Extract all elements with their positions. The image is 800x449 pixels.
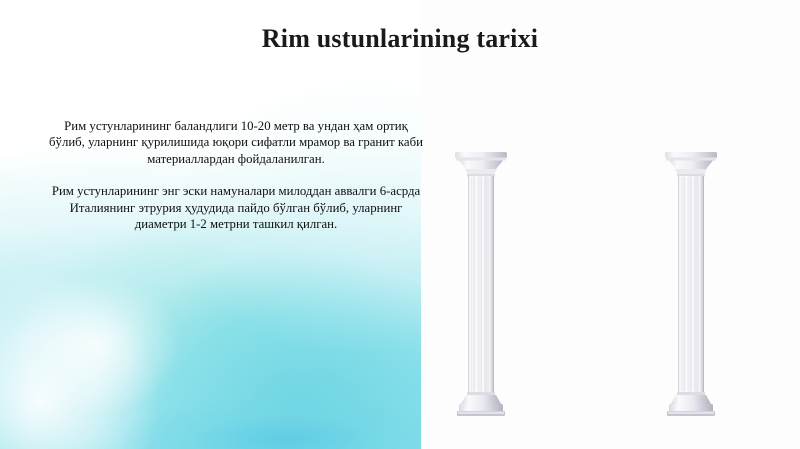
slide-canvas: Rim ustunlarining tarixi Рим устунларини…	[0, 0, 800, 449]
body-text-block: Рим устунларининг баландлиги 10-20 метр …	[46, 118, 426, 232]
roman-column-left	[446, 150, 516, 422]
roman-column-icon	[446, 150, 516, 422]
roman-column-right	[656, 150, 726, 422]
body-paragraph-1: Рим устунларининг баландлиги 10-20 метр …	[46, 118, 426, 167]
body-paragraph-2: Рим устунларининг энг эски намуналари ми…	[46, 183, 426, 232]
slide-title: Rim ustunlarining tarixi	[0, 24, 800, 54]
roman-column-icon	[656, 150, 726, 422]
